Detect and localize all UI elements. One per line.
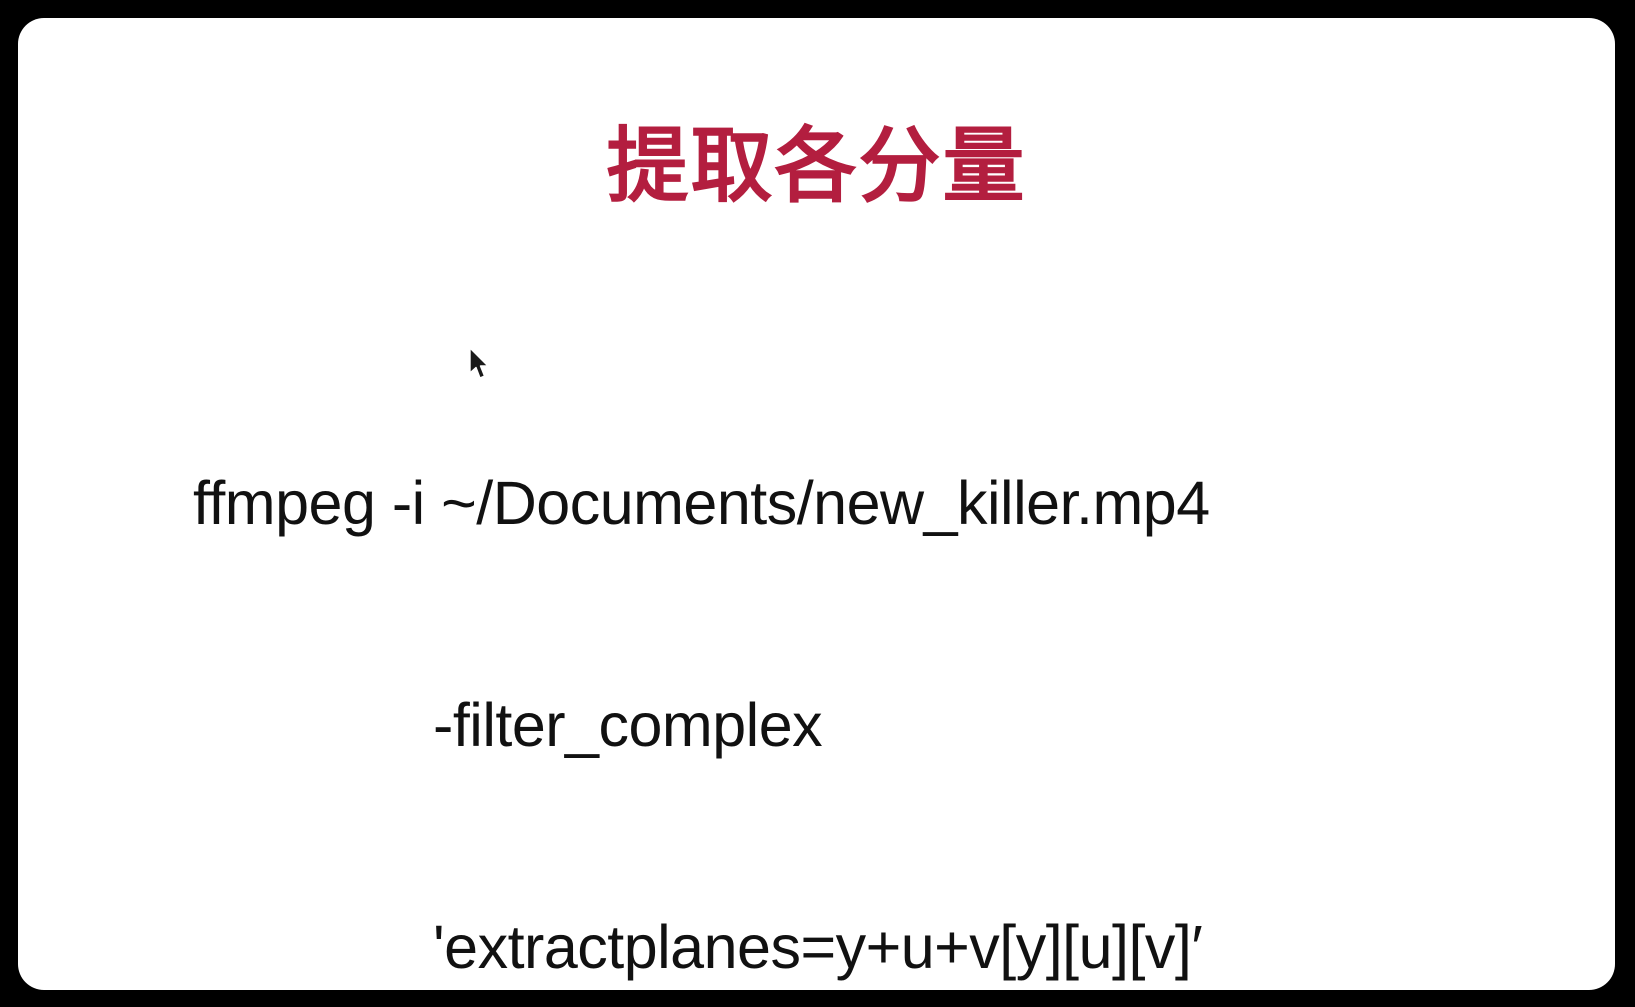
slide-surface: 提取各分量 ffmpeg -i ~/Documents/new_killer.m… — [18, 18, 1615, 990]
command-line: 'extractplanes=y+u+v[y][u][v]′ — [193, 910, 1493, 984]
command-code-block: ffmpeg -i ~/Documents/new_killer.mp4 -fi… — [193, 318, 1493, 990]
command-line: -filter_complex — [193, 688, 1493, 762]
command-line: ffmpeg -i ~/Documents/new_killer.mp4 — [193, 466, 1493, 540]
page-title: 提取各分量 — [18, 122, 1615, 212]
slide-frame: 提取各分量 ffmpeg -i ~/Documents/new_killer.m… — [0, 0, 1635, 1007]
